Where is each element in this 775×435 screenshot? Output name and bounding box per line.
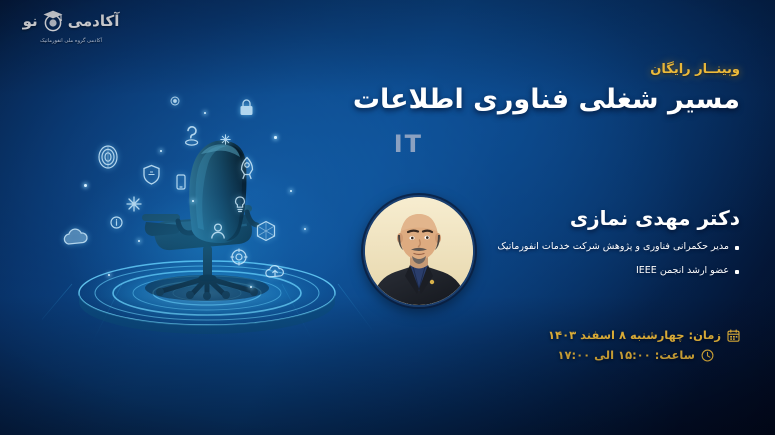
graduation-cap-icon bbox=[40, 8, 66, 34]
list-item: عضو ارشد انجمن IEEE bbox=[440, 264, 740, 279]
logo-tagline: آکادمی گروه ملی انفورماتیک bbox=[40, 38, 102, 44]
brand-logo[interactable]: آکادمی نو آکادمی گروه ملی انفورماتیک bbox=[11, 6, 131, 54]
logo-wordmark: آکادمی نو bbox=[23, 6, 120, 36]
schedule-date-label: زمان: چهارشنبه ۸ اسفند ۱۴۰۳ bbox=[548, 328, 721, 342]
schedule-time-row: ساعت: ۱۵:۰۰ الی ۱۷:۰۰ bbox=[548, 348, 740, 362]
logo-word-right: آکادمی bbox=[68, 14, 120, 29]
content-column: وبینــار رایگان مسیر شغلی فناوری اطلاعات… bbox=[345, 0, 775, 435]
avatar bbox=[363, 195, 475, 307]
speaker-name: دکتر مهدی نمازی bbox=[570, 206, 740, 230]
schedule-time-label: ساعت: ۱۵:۰۰ الی ۱۷:۰۰ bbox=[557, 348, 695, 362]
clock-icon bbox=[701, 349, 714, 362]
office-chair-tech-illustration bbox=[42, 88, 372, 343]
list-item: مدیر حکمرانی فناوری و پژوهش شرکت خدمات ا… bbox=[440, 240, 740, 255]
portrait-speaker bbox=[365, 197, 473, 305]
title-subtext-it: IT bbox=[394, 130, 423, 158]
chair-scene-svg bbox=[42, 88, 372, 343]
webinar-poster: آکادمی نو آکادمی گروه ملی انفورماتیک وبی… bbox=[0, 0, 775, 435]
kicker-free-webinar: وبینــار رایگان bbox=[650, 62, 740, 77]
page-title: مسیر شغلی فناوری اطلاعات bbox=[353, 84, 740, 115]
logo-word-left: نو bbox=[23, 14, 38, 29]
calendar-icon bbox=[727, 329, 740, 342]
speaker-credentials-list: مدیر حکمرانی فناوری و پژوهش شرکت خدمات ا… bbox=[440, 240, 740, 287]
schedule-block: زمان: چهارشنبه ۸ اسفند ۱۴۰۳ ساعت: ۱۵:۰۰ … bbox=[548, 328, 740, 368]
schedule-date-row: زمان: چهارشنبه ۸ اسفند ۱۴۰۳ bbox=[548, 328, 740, 342]
